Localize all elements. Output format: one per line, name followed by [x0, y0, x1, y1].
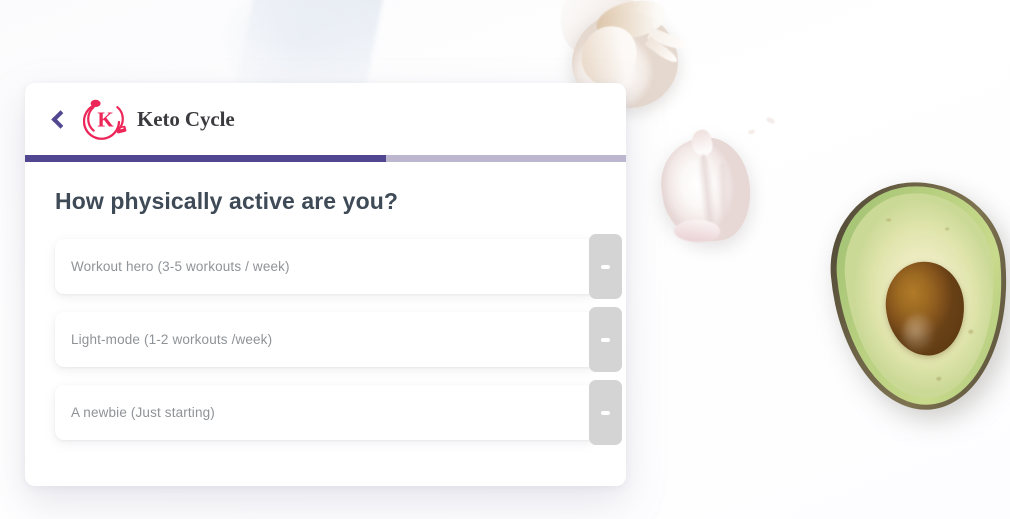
- card-header: K Keto Cycle: [25, 83, 626, 155]
- option-row-a-newbie[interactable]: A newbie (Just starting): [55, 385, 596, 440]
- progress-bar-fill: [25, 155, 386, 162]
- option-badge[interactable]: [589, 380, 622, 445]
- garlic-skin-flake-b: [748, 129, 756, 135]
- brand: K Keto Cycle: [83, 96, 235, 142]
- option-row-workout-hero[interactable]: Workout hero (3-5 workouts / week): [55, 239, 596, 294]
- garlic-clove-image: [656, 132, 754, 244]
- dash-icon: [601, 411, 610, 415]
- dash-icon: [601, 338, 610, 342]
- page-title: How physically active are you?: [55, 188, 596, 215]
- option-badge[interactable]: [589, 307, 622, 372]
- svg-text:K: K: [97, 108, 114, 132]
- option-list: Workout hero (3-5 workouts / week) Light…: [55, 239, 596, 440]
- garlic-clove-root: [674, 220, 720, 242]
- back-button[interactable]: [39, 99, 79, 139]
- card-body: How physically active are you? Workout h…: [25, 162, 626, 440]
- garlic-skin-flake-a: [765, 116, 775, 124]
- onboarding-card: K Keto Cycle How physically active are y…: [25, 83, 626, 486]
- avocado-half-image: [823, 175, 1010, 417]
- brand-name: Keto Cycle: [137, 107, 235, 132]
- option-row-light-mode[interactable]: Light-mode (1-2 workouts /week): [55, 312, 596, 367]
- dash-icon: [601, 265, 610, 269]
- keto-cycle-k-logo-icon: K: [83, 96, 129, 142]
- progress-bar: [25, 155, 626, 162]
- option-label: Light-mode (1-2 workouts /week): [55, 332, 272, 347]
- option-label: A newbie (Just starting): [55, 405, 215, 420]
- option-label: Workout hero (3-5 workouts / week): [55, 259, 290, 274]
- option-badge[interactable]: [589, 234, 622, 299]
- chevron-left-icon: [51, 110, 69, 128]
